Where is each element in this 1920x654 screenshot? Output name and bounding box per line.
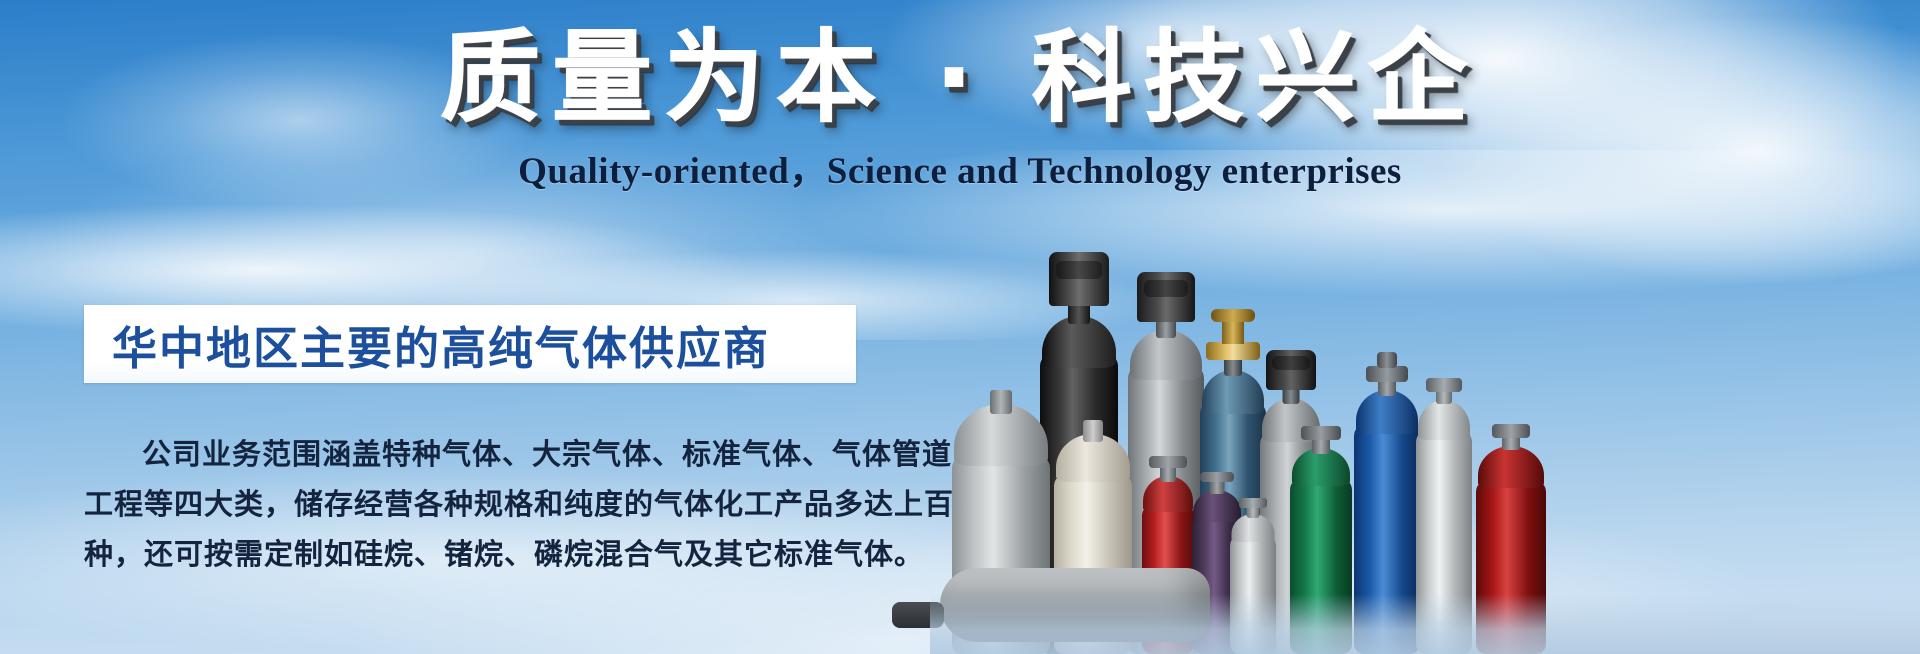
description-line-2: 工程等四大类，储存经营各种规格和纯度的气体化工产品多达上百: [84, 480, 874, 530]
description-line-3: 种，还可按需定制如硅烷、锗烷、磷烷混合气及其它标准气体。: [84, 530, 874, 580]
description-line-1: 公司业务范围涵盖特种气体、大宗气体、标准气体、气体管道: [84, 430, 874, 480]
page-subtitle: Quality-oriented，Science and Technology …: [0, 140, 1920, 194]
page-title: 质量为本 · 科技兴企: [0, 22, 1920, 134]
ground-shadow: [930, 594, 1920, 654]
slogan-text: 华中地区主要的高纯气体供应商: [112, 312, 770, 377]
promo-banner: 质量为本 · 科技兴企 Quality-oriented，Science and…: [0, 0, 1920, 654]
brass-valve: [1206, 342, 1260, 360]
description-paragraph: 公司业务范围涵盖特种气体、大宗气体、标准气体、气体管道 工程等四大类，储存经营各…: [84, 430, 874, 580]
slogan-highlight-box: 华中地区主要的高纯气体供应商: [84, 305, 856, 383]
